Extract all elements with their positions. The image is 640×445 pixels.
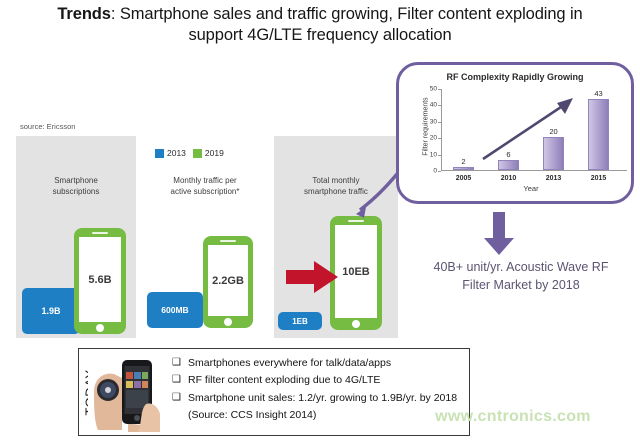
chart-x-tick-2015: 2015 [591,175,607,182]
chart-y-tick-40: 40 [430,102,437,109]
chart-title: RF Complexity Rapidly Growing [399,72,631,82]
panel-2-new-value: 2.2GB [208,245,248,316]
chart-y-tickmark-40 [438,105,441,106]
panel-smartphone-subscriptions: Smartphone subscriptions 1.9B 5.6B [16,136,136,338]
chart-bar-2010 [498,160,520,170]
chart-plot-area: Filter requirements 01020304050 262043 2… [441,89,621,171]
chart-bar-value-2010: 6 [506,150,510,159]
legend-swatch-2013 [155,149,164,158]
down-arrow-icon [482,212,516,256]
chart-y-tick-10: 10 [430,151,437,158]
legend-label-2019: 2019 [205,148,224,158]
chart-bar-2005 [453,167,475,170]
chart-y-tick-20: 20 [430,135,437,142]
chart-y-tickmark-0 [438,171,441,172]
chart-x-tick-2005: 2005 [456,175,472,182]
chart-bar-value-2015: 43 [594,89,602,98]
today-bullet-text: Smartphones everywhere for talk/data/app… [188,356,462,370]
page-title: Trends: Smartphone sales and traffic gro… [34,4,606,46]
chart-x-axis [441,170,627,171]
home-button-icon [96,324,104,332]
panel-1-new-value: 5.6B [79,237,121,322]
legend-swatch-2019 [193,149,202,158]
panel-monthly-traffic: Monthly traffic per active subscription*… [143,136,267,338]
chart-bar-2015 [588,99,610,170]
checkbox-icon [172,408,188,422]
chart-y-tickmark-10 [438,155,441,156]
chart-x-tick-2010: 2010 [501,175,517,182]
panel-3-old-value: 1EB [278,312,322,330]
today-bullet-row: ❑Smartphones everywhere for talk/data/ap… [172,356,462,370]
today-bullet-text: RF filter content exploding due to 4G/LT… [188,373,462,387]
chart-y-axis [441,89,442,171]
chart-y-axis-label: Filter requirements [423,82,430,172]
chart-y-tickmark-20 [438,138,441,139]
chart-x-tick-2013: 2013 [546,175,562,182]
checkbox-icon: ❑ [172,391,188,405]
checkbox-icon: ❑ [172,356,188,370]
page-title-rest: : Smartphone sales and traffic growing, … [111,5,583,44]
chart-y-tickmark-50 [438,89,441,90]
panel-1-old-value: 1.9B [22,288,80,334]
legend: 2013 2019 [155,146,265,160]
source-credit: source: Ericsson [20,122,75,131]
chart-y-tick-30: 30 [430,118,437,125]
chart-x-axis-label: Year [441,184,621,193]
panel-1-caption-l2: subscriptions [53,187,100,196]
panel-2-caption: Monthly traffic per active subscription* [143,176,267,197]
panel-2-caption-l2: active subscription* [171,187,240,196]
home-button-icon [224,318,232,326]
panel-1-phone: 5.6B [74,228,126,334]
speaker-icon [92,232,108,234]
today-bullet-text: Smartphone unit sales: 1.2/yr. growing t… [188,391,462,405]
checkbox-icon: ❑ [172,373,188,387]
legend-item-2019: 2019 [193,148,224,158]
panel-3-new-value: 10EB [335,225,377,318]
chart-y-tick-50: 50 [430,86,437,93]
chart-bar-value-2013: 20 [549,127,557,136]
chart-y-tick-0: 0 [433,168,437,175]
panel-2-old-value: 600MB [147,292,203,328]
page-title-bold: Trends [57,5,111,23]
chart-bar-2013 [543,137,565,170]
panel-2-caption-l1: Monthly traffic per [173,176,236,185]
rf-complexity-callout: RF Complexity Rapidly Growing Filter req… [396,62,634,204]
panel-1-caption-l1: Smartphone [54,176,98,185]
today-bullet-row: ❑RF filter content exploding due to 4G/L… [172,373,462,387]
watermark: www.cntronics.com [388,408,638,426]
hand-holding-smartphone-photo [88,352,164,432]
market-caption: 40B+ unit/yr. Acoustic Wave RF Filter Ma… [418,258,624,294]
legend-label-2013: 2013 [167,148,186,158]
panel-1-caption: Smartphone subscriptions [16,176,136,197]
chart-y-tickmark-30 [438,122,441,123]
today-bullet-row: ❑Smartphone unit sales: 1.2/yr. growing … [172,391,462,405]
speaker-icon [220,240,236,242]
panel-2-phone: 2.2GB [203,236,253,328]
chart-bar-value-2005: 2 [461,157,465,166]
right-arrow-icon [284,256,340,298]
home-button-icon [352,320,360,328]
legend-item-2013: 2013 [155,148,186,158]
